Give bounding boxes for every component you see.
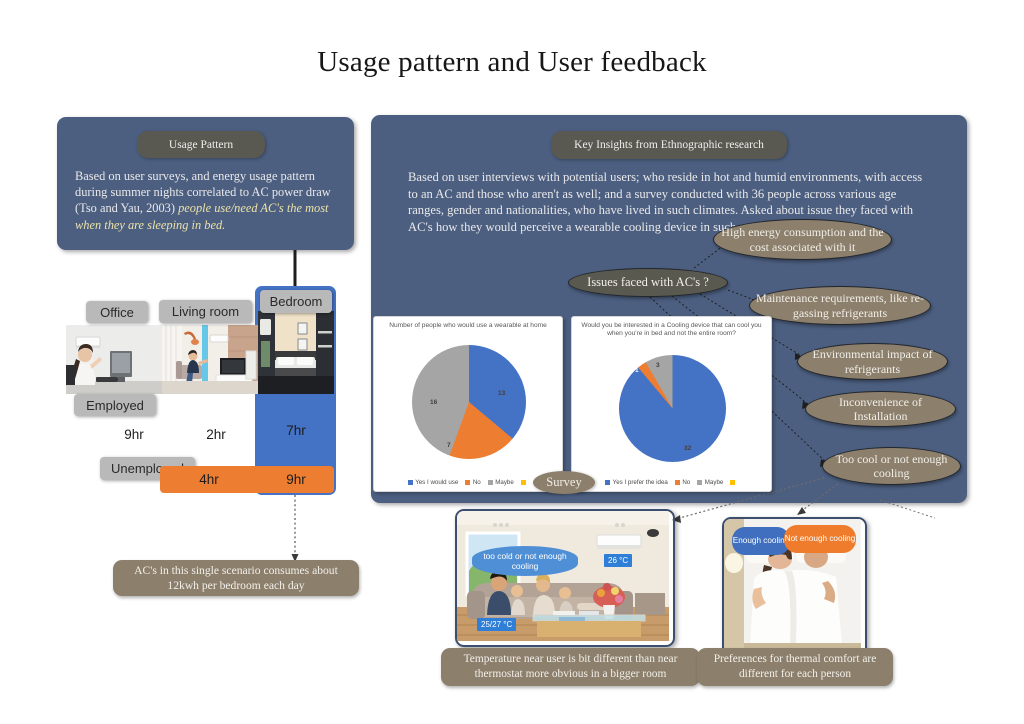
bar-unemployed-bedroom: 9hr [258,466,334,493]
pie-label-no: 7 [447,442,451,449]
row-label-employed: Employed [74,394,156,416]
bar-employed-office: 9hr [106,418,162,450]
speech-cloud-too-cold: too cold or not enough cooling [472,546,578,576]
energy-note: AC's in this single scenario consumes ab… [113,560,359,596]
room-tag-bedroom: Bedroom [260,290,332,313]
legend-label-yes: Yes I would use [415,479,458,486]
caption-living-room: Temperature near user is bit different t… [441,648,700,686]
legend-swatch-gray [488,480,493,485]
caption-bed: Preferences for thermal comfort are diff… [697,648,893,686]
pie-label-yes: 13 [498,390,505,397]
pie-label-no: 1 [635,367,639,374]
legend-label-no: No [473,479,481,486]
issues-node: Issues faced with AC's ? [568,268,728,297]
issue-maintenance: Maintenance requirements, like re-gassin… [749,286,931,325]
legend-swatch-yellow [730,480,735,485]
office-photo [66,325,162,394]
legend-swatch-orange [465,480,470,485]
speech-bubble-not-enough-cooling: Not enough cooling [784,525,856,553]
legend-label-maybe: Maybe [705,479,724,486]
room-tag-living: Living room [159,300,252,323]
speech-bubble-left-text: Enough cooling [733,536,789,546]
bed-scene-photo: Enough cooling Not enough cooling [722,517,867,657]
speech-bubble-enough-cooling: Enough cooling [732,527,790,555]
speech-bubble-right-text: Not enough cooling [785,534,856,544]
legend-swatch-blue [408,480,413,485]
issue-high-energy: High energy consumption and the cost ass… [713,219,892,260]
legend-label-maybe: Maybe [495,479,514,486]
survey-badge: Survey [533,471,595,494]
legend-label-yes: Yes I prefer the idea [613,479,668,486]
legend-swatch-yellow [521,480,526,485]
legend-swatch-blue [605,480,610,485]
legend-item-blank [730,480,738,485]
bedroom-photo [258,311,334,394]
legend-swatch-orange [675,480,680,485]
pie-label-maybe: 16 [430,399,437,406]
legend-swatch-gray [697,480,702,485]
key-insights-header: Key Insights from Ethnographic research [551,131,787,159]
survey-chart-wearable: Number of people who would use a wearabl… [373,316,563,492]
legend-item-yes: Yes I would use [408,479,459,486]
issue-installation: Inconvenience of Installation [805,391,956,427]
legend-item-maybe: Maybe [488,479,514,486]
legend-item-blank [521,480,529,485]
bar-unemployed-living: 4hr [160,466,258,493]
legend-item-no: No [675,479,690,486]
usage-pattern-header: Usage Pattern [137,131,265,158]
speech-cloud-text: too cold or not enough cooling [472,551,578,571]
legend-item-no: No [465,479,480,486]
living-room-photo [162,325,258,394]
issue-too-cool: Too cool or not enough cooling [822,447,961,485]
legend-item-maybe: Maybe [697,479,723,486]
page-title: Usage pattern and User feedback [0,46,1024,79]
bar-employed-living: 2hr [188,418,244,450]
survey-chart-cooling-device: Would you be interested in a Cooling dev… [571,316,772,492]
living-room-scene-photo: too cold or not enough cooling 26 °C 25/… [455,509,675,647]
pie-label-yes: 32 [684,445,691,452]
bar-employed-bedroom: 7hr [258,394,334,467]
legend-item-yes: Yes I prefer the idea [605,479,668,486]
slide-canvas: Usage pattern and User feedback Usage Pa… [0,0,1024,724]
chart-legend: Yes I prefer the idea No Maybe [572,479,771,486]
issue-environmental: Environmental impact of refrigerants [797,343,948,380]
pie-label-maybe: 3 [656,362,660,369]
room-tag-office: Office [86,301,148,323]
usage-pattern-body: Based on user surveys, and energy usage … [75,168,340,233]
chart-title: Number of people who would use a wearabl… [378,322,558,330]
chart-title: Would you be interested in a Cooling dev… [576,322,767,339]
legend-label-no: No [682,479,690,486]
temp-badge-user: 25/27 °C [477,618,516,631]
temp-badge-ac: 26 °C [604,554,632,567]
